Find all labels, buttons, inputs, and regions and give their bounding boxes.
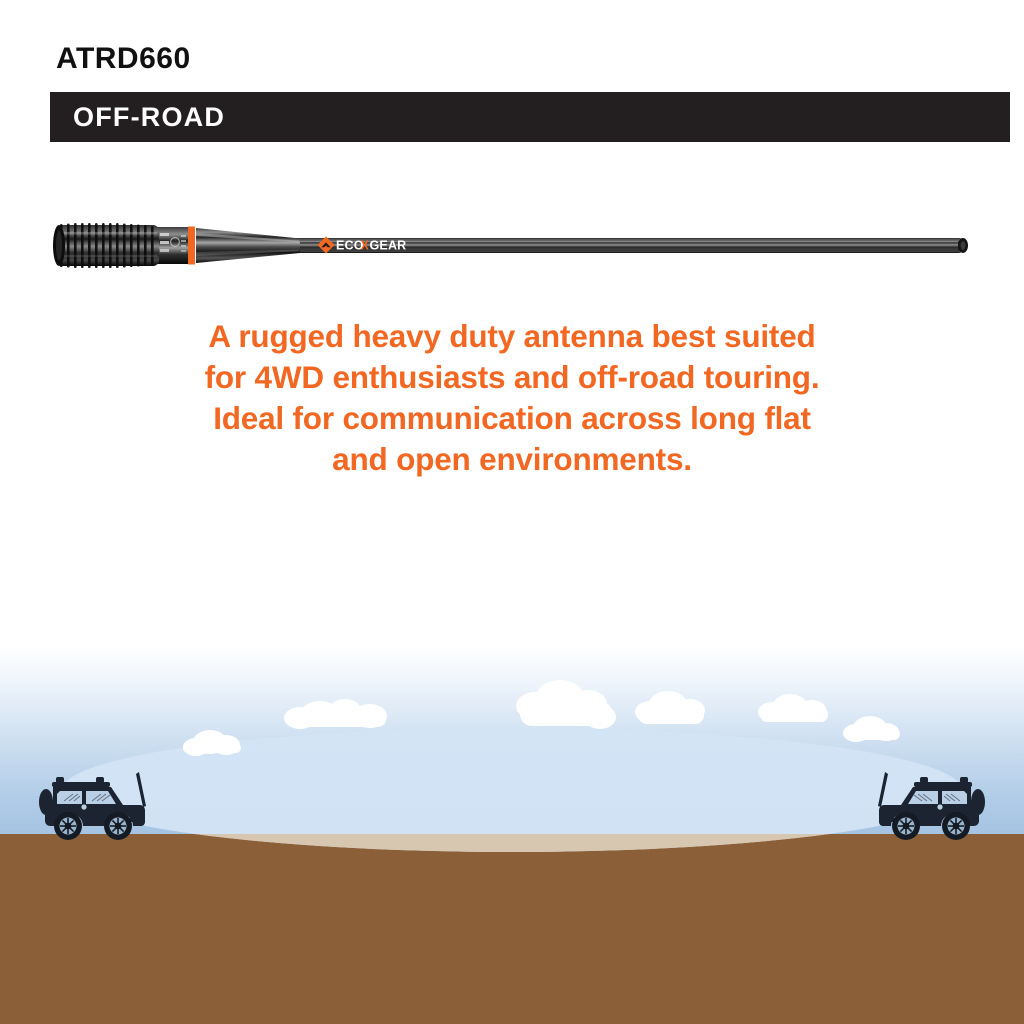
ground (0, 834, 1024, 1024)
wheel (54, 812, 82, 840)
description-line-4: and open environments. (92, 439, 932, 480)
description-line-2: for 4WD enthusiasts and off-road touring… (92, 357, 932, 398)
wheel (104, 812, 132, 840)
antenna-coil-base (53, 223, 159, 268)
infographic-canvas: ATRD660 OFF-ROAD (0, 0, 1024, 1024)
antenna-ferrule (157, 227, 188, 264)
category-banner-label: OFF-ROAD (73, 104, 225, 131)
antenna-accent-band (188, 227, 195, 265)
antenna-product-image: ECO X GEAR (0, 200, 1024, 300)
wheel (892, 812, 920, 840)
wheel (942, 812, 970, 840)
description-line-1: A rugged heavy duty antenna best suited (92, 316, 932, 357)
category-banner: OFF-ROAD (50, 92, 1010, 142)
antenna-taper (196, 228, 300, 263)
brand-logo-text-x: X (361, 238, 370, 252)
off-road-communication-scene (0, 648, 1024, 1024)
product-description: A rugged heavy duty antenna best suited … (92, 316, 932, 480)
description-line-3: Ideal for communication across long flat (92, 398, 932, 439)
page-title: ATRD660 (56, 44, 191, 74)
brand-logo-text-gear: GEAR (370, 238, 407, 252)
